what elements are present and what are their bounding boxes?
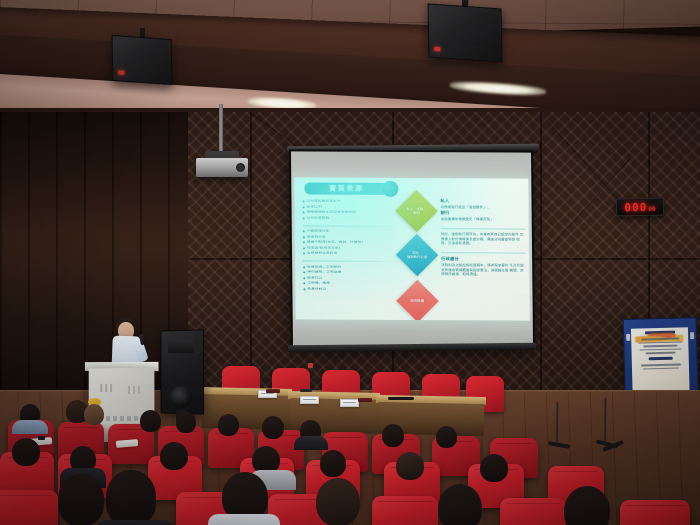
slide-divider xyxy=(303,225,395,226)
projected-slide: 實質來源 公司登記變更登記卡 股金比例 xyxy=(294,177,530,320)
lectern-emblem-icon xyxy=(99,416,143,421)
audience-head xyxy=(480,454,508,482)
wall-outlet-icon xyxy=(308,363,313,368)
audience-seat xyxy=(500,498,566,525)
audience-head xyxy=(176,412,196,433)
bullet-dot-icon xyxy=(303,277,305,279)
lectern-slot xyxy=(128,386,130,394)
pa-speaker-horn xyxy=(168,340,194,353)
lectern-slot xyxy=(100,384,102,392)
bullet-item: 公司財產書冊 xyxy=(303,216,399,220)
bullet-item: 專利證明、土地憑據 xyxy=(303,271,399,275)
bullet-item: 權屬不動產(車本、機具、存貨等) xyxy=(303,241,399,245)
audience-head xyxy=(160,442,188,470)
audience-seat xyxy=(620,500,690,525)
ceiling-speaker-right xyxy=(428,3,503,62)
bullet-dot-icon xyxy=(303,206,305,208)
audience-seat xyxy=(372,496,438,525)
table-item-folder xyxy=(358,398,372,402)
banner-text-line xyxy=(639,348,681,351)
banner-text-line xyxy=(640,363,680,366)
diamond-government: 政府機關 xyxy=(396,280,438,321)
bullet-dot-icon xyxy=(303,217,305,219)
audience-head xyxy=(140,410,161,432)
bullet-item: 股權憑證、土地契約 xyxy=(303,265,399,269)
bullet-item: 現金品項(現金台帳) xyxy=(303,246,399,250)
audience-shoulders xyxy=(294,436,328,450)
bullet-item: 金融機構設定及借貸債務登記 xyxy=(303,211,399,215)
bullet-item: 公司登記變更登記卡 xyxy=(302,199,398,203)
audience-head xyxy=(316,478,360,525)
bullet-dot-icon xyxy=(303,236,305,238)
audience-head xyxy=(396,452,424,480)
table-cable xyxy=(388,397,414,400)
audience-head xyxy=(58,474,104,525)
right-block: 私人 向債權銀行提出「追償要件」… 銀行 金融機構依債權登記「債權原則」 xyxy=(440,198,524,222)
slide-title-dot-icon xyxy=(382,181,398,197)
bullet-dot-icon xyxy=(303,253,305,255)
audience-head xyxy=(320,450,346,477)
countdown-display: 000 00 xyxy=(616,198,664,217)
slide-title: 實質來源 xyxy=(329,185,363,192)
bullet-dot-icon xyxy=(303,242,305,244)
bullet-item: 股金比例 xyxy=(303,205,399,209)
bullet-dot-icon xyxy=(303,288,305,290)
phone-device xyxy=(38,436,45,440)
bullet-dot-icon xyxy=(303,266,305,268)
banner-clip-icon xyxy=(626,334,630,341)
banner-text-line xyxy=(643,345,677,347)
ceiling-speaker-left xyxy=(112,35,173,85)
speaker-led-icon xyxy=(434,47,440,51)
slide-divider xyxy=(303,261,395,262)
lectern-slot xyxy=(133,386,135,394)
bullet-group-2: 不動產權分配 房屋稅分配 權屬不動產(車本、機具、存貨等) 現金品項( xyxy=(303,230,399,257)
timer-minutes: 000 xyxy=(624,201,647,212)
audience-head xyxy=(106,470,156,525)
audience-head xyxy=(12,438,40,466)
audience-head xyxy=(218,414,239,436)
diamond-private-bank: 私人、金融、 銀行 xyxy=(395,190,437,232)
bullet-item: 商業代公 xyxy=(303,276,399,280)
audience-shoulders xyxy=(208,514,280,525)
nameplate xyxy=(340,399,359,407)
banner-subtitle-bar xyxy=(648,357,672,361)
slide-divider xyxy=(441,252,525,253)
bullet-item: 不動產權分配 xyxy=(303,230,399,234)
slide-title-banner: 實質來源 xyxy=(304,182,388,194)
banner-text-line xyxy=(645,352,675,354)
audience-shoulders xyxy=(12,420,48,434)
screen-surface: 實質來源 公司登記變更登記卡 股金比例 xyxy=(291,151,533,346)
audience-head xyxy=(438,484,482,525)
wall-seam xyxy=(540,112,542,412)
slide-right-column: 私人 向債權銀行提出「追償要件」… 銀行 金融機構依債權登記「債權原則」 訴訟、… xyxy=(440,198,525,283)
right-block: 行政處分 法院判決之訴訟訴訟過程中，請求程序要件 凡涉及國家所徵收管轄範圍與國家… xyxy=(441,256,525,278)
slide-left-column: 公司登記變更登記卡 股金比例 金融機構設定及借貸債務登記 公司財產書冊 xyxy=(302,199,399,296)
timer-seconds: 00 xyxy=(648,207,655,213)
nameplate xyxy=(300,396,319,404)
bullet-item: 生財器具在庫評估 xyxy=(303,252,399,256)
bullet-dot-icon xyxy=(303,230,305,232)
bullet-item: 客單存託公 xyxy=(303,287,399,291)
banner-text-line xyxy=(638,341,682,344)
auditorium-scene: 實質來源 公司登記變更登記卡 股金比例 xyxy=(0,0,700,525)
pa-speaker-driver-icon xyxy=(170,386,192,408)
table-item-device xyxy=(300,389,312,392)
bullet-group-1: 公司登記變更登記卡 股金比例 金融機構設定及借貸債務登記 公司財產書冊 xyxy=(302,199,398,220)
audience-head xyxy=(84,404,104,425)
projector-lens-icon xyxy=(236,163,245,172)
slide-diamond-column: 私人、金融、 銀行 法院、 強制執行公會 政府機關 xyxy=(398,194,437,318)
audience-shoulders xyxy=(96,520,174,525)
table-item-folder xyxy=(266,389,280,393)
bullet-group-3: 股權憑證、土地契約 專利證明、土地憑據 商業代公 土地權、國產 xyxy=(303,265,399,292)
banner-text-line xyxy=(642,367,678,370)
audience-head xyxy=(436,426,457,448)
lectern-slot xyxy=(110,384,112,392)
bullet-dot-icon xyxy=(302,200,304,202)
audience-seat xyxy=(0,490,58,525)
audience-head xyxy=(262,416,284,439)
bullet-dot-icon xyxy=(303,283,305,285)
bullet-item: 土地權、國產 xyxy=(303,282,399,286)
lectern-slot xyxy=(105,384,107,392)
bullet-dot-icon xyxy=(303,272,305,274)
slide-divider xyxy=(441,228,525,229)
bullet-dot-icon xyxy=(303,247,305,249)
banner-clip-icon xyxy=(690,332,694,339)
speaker-led-icon xyxy=(118,70,124,74)
right-block: 訴訟、強制執行程序的，本身有其自己認定的條件 及債權人對於債權保全處分權、需由法… xyxy=(441,232,525,246)
diamond-court-enforcement: 法院、 強制執行公會 xyxy=(396,234,438,276)
bullet-dot-icon xyxy=(303,211,305,213)
lectern-slot xyxy=(138,386,140,394)
bullet-item: 房屋稅分配 xyxy=(303,235,399,239)
projection-screen: 實質來源 公司登記變更登記卡 股金比例 xyxy=(289,149,535,348)
audience-head xyxy=(382,424,404,447)
